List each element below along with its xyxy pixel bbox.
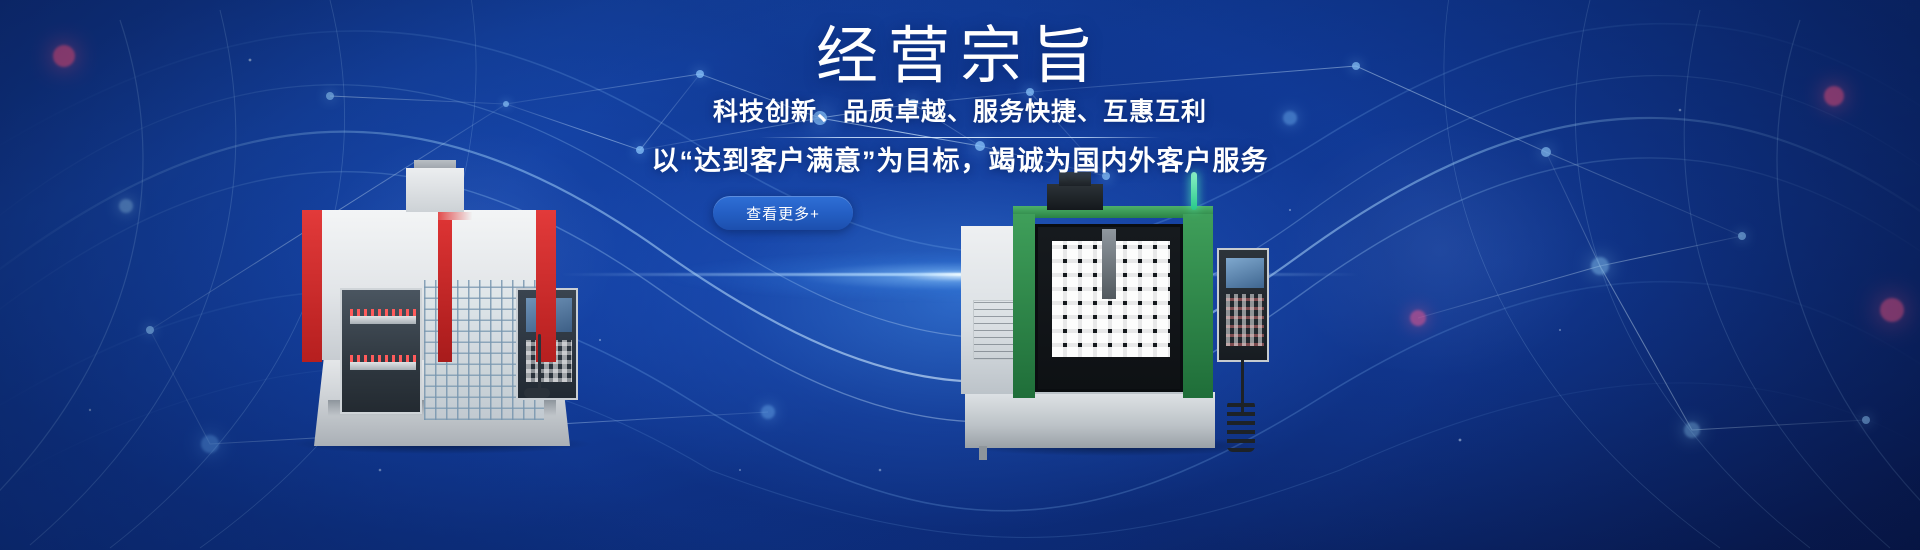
banner-title: 经营宗旨 <box>0 26 1920 88</box>
view-more-button[interactable]: 查看更多+ <box>713 196 853 230</box>
banner-subtitle: 科技创新、品质卓越、服务快捷、互惠互利 <box>0 100 1920 125</box>
banner-copy-block: 经营宗旨 科技创新、品质卓越、服务快捷、互惠互利 以“达到客户满意”为目标，竭诚… <box>0 0 1920 550</box>
banner-divider <box>760 137 1160 138</box>
hero-banner: 经营宗旨 科技创新、品质卓越、服务快捷、互惠互利 以“达到客户满意”为目标，竭诚… <box>0 0 1920 550</box>
banner-tagline: 以“达到客户满意”为目标，竭诚为国内外客户服务 <box>0 148 1920 175</box>
